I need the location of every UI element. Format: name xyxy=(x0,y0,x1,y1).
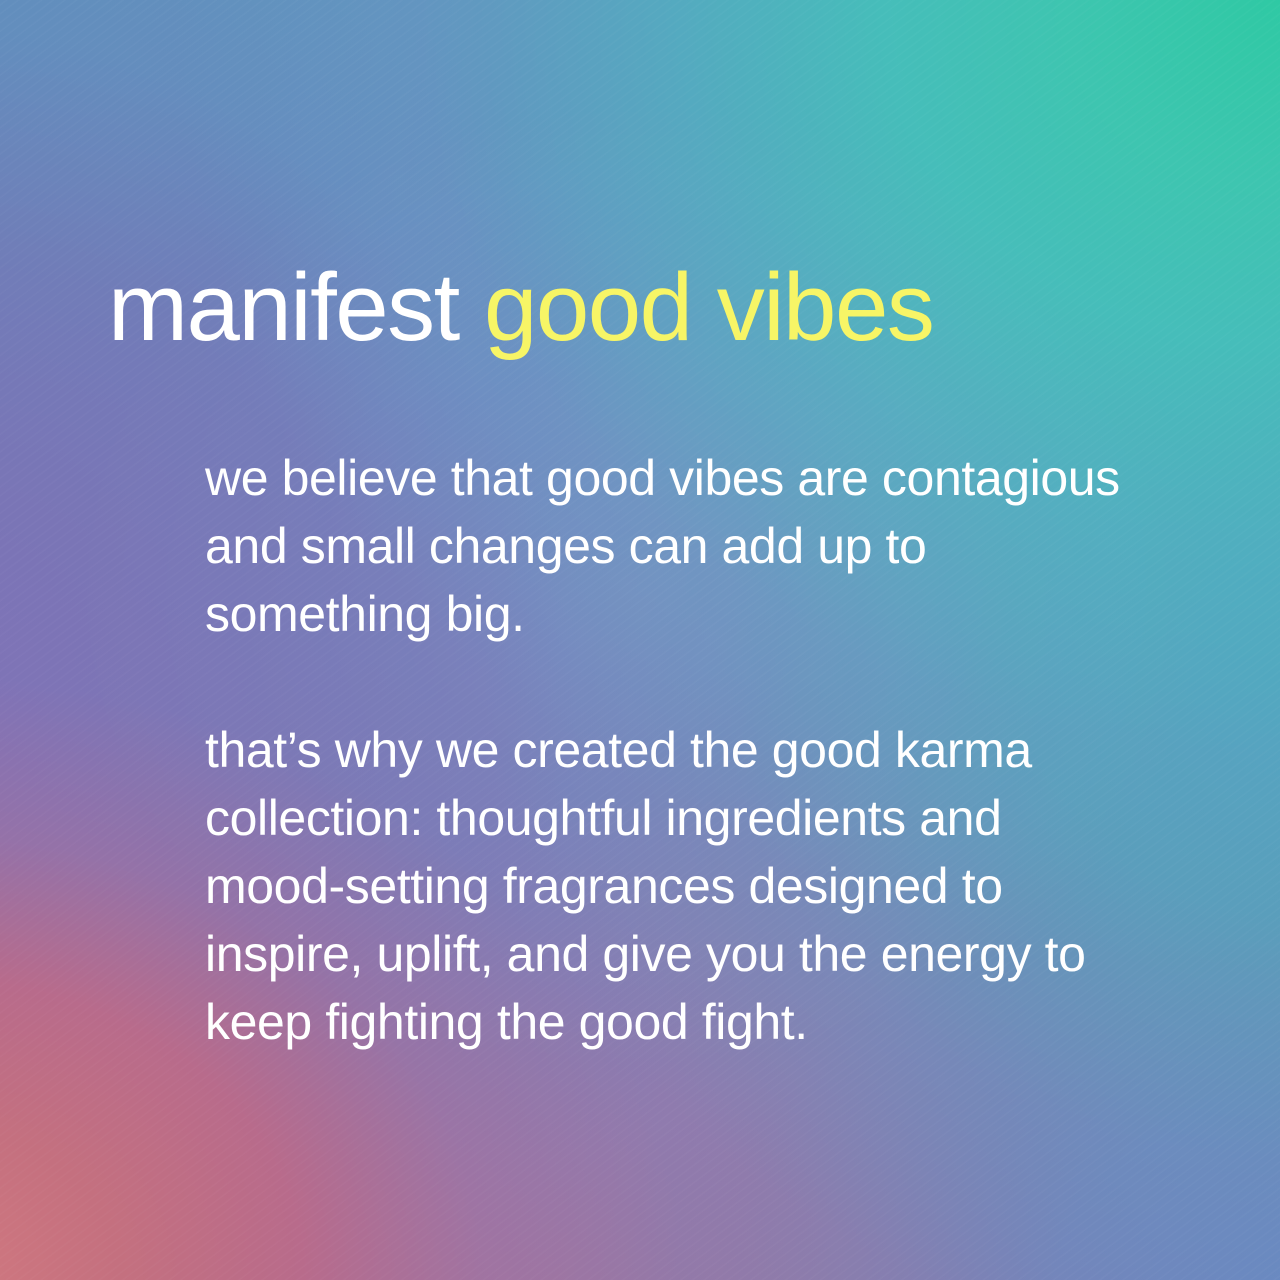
poster-content: manifest good vibes we believe that good… xyxy=(0,0,1280,1280)
headline-accent-text: good vibes xyxy=(484,254,933,361)
marketing-poster: manifest good vibes we believe that good… xyxy=(0,0,1280,1280)
headline-lead-text: manifest xyxy=(108,254,484,361)
paragraph-collection: that’s why we created the good karma col… xyxy=(205,716,1145,1056)
page-title: manifest good vibes xyxy=(108,258,933,359)
paragraph-belief: we believe that good vibes are contagiou… xyxy=(205,444,1145,648)
body-copy: we believe that good vibes are contagiou… xyxy=(205,444,1145,1056)
